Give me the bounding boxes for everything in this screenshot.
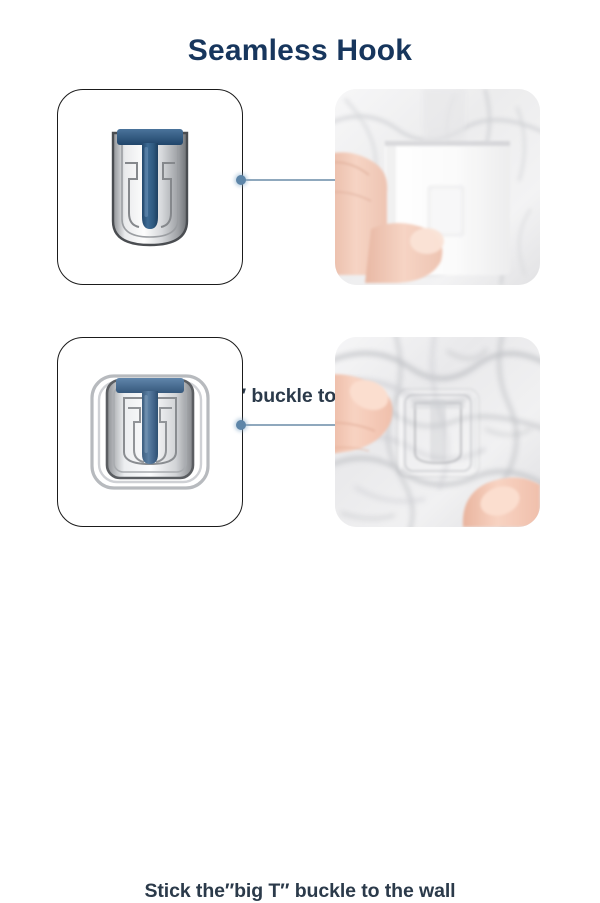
big-t-buckle-diagram: [58, 338, 242, 526]
connector-line-2: [236, 420, 340, 430]
big-t-buckle-card: [57, 337, 243, 527]
photo-wall-hook: [335, 337, 540, 527]
step-2-caption: Stick the″big T″ buckle to the wall: [0, 880, 600, 903]
connector-line-segment: [242, 424, 340, 426]
connector-dot: [236, 175, 246, 185]
small-t-buckle-icon: [95, 117, 205, 257]
photo-toilet-brush-base: [335, 89, 540, 285]
connector-line-segment: [242, 179, 340, 181]
small-t-buckle-diagram: [58, 90, 242, 284]
small-t-buckle-card: [57, 89, 243, 285]
connector-line-1: [236, 175, 340, 185]
toilet-brush-base-photo-art: [335, 89, 540, 285]
infographic-page: Seamless Hook: [0, 0, 600, 600]
page-title: Seamless Hook: [0, 34, 600, 68]
wall-hook-photo-art: [335, 337, 540, 527]
big-t-buckle-icon: [88, 364, 212, 500]
connector-dot: [236, 420, 246, 430]
